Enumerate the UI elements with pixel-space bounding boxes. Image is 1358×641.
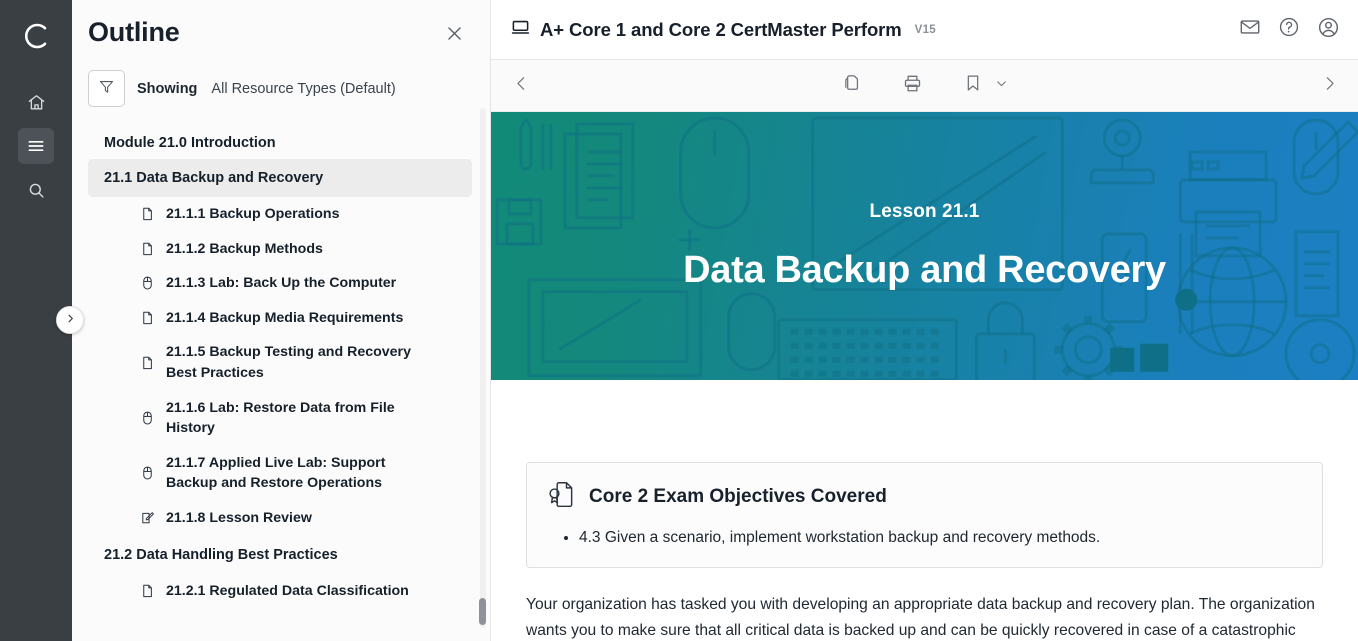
- mail-button[interactable]: [1239, 16, 1261, 43]
- exam-objectives-list: 4.3 Given a scenario, implement workstat…: [579, 526, 1302, 549]
- user-circle-icon: [1317, 16, 1340, 44]
- chevron-left-icon: [513, 75, 530, 97]
- previous-page-button[interactable]: [513, 75, 530, 97]
- document-icon: [140, 582, 156, 600]
- course-version: V15: [915, 24, 936, 36]
- sidebar-collapse-toggle[interactable]: [56, 306, 84, 334]
- reader-toolbar-actions: [491, 60, 1358, 111]
- outline-topic-label: 21.2.1 Regulated Data Classification: [166, 581, 409, 602]
- outline-header: Outline: [72, 0, 490, 52]
- outline-topic-label: 21.1.2 Backup Methods: [166, 239, 323, 260]
- copy-icon: [842, 73, 862, 98]
- main-column: A+ Core 1 and Core 2 CertMaster Perform …: [491, 0, 1358, 641]
- outline-scrollbar-track[interactable]: [480, 108, 486, 628]
- outline-lesson-item[interactable]: 21.2 Data Handling Best Practices: [88, 536, 472, 574]
- chevron-right-icon: [65, 311, 76, 329]
- outline-title: Outline: [88, 18, 180, 48]
- showing-value[interactable]: All Resource Types (Default): [211, 81, 395, 97]
- app-root: Outline Showing All Resource Types (Defa…: [0, 0, 1358, 641]
- filter-button[interactable]: [88, 70, 125, 107]
- bookmark-icon: [963, 73, 983, 98]
- document-icon: [140, 205, 156, 223]
- hero-lesson-title: Data Backup and Recovery: [683, 249, 1166, 292]
- mouse-lab-icon: [140, 409, 156, 427]
- outline-scrollbar-thumb[interactable]: [479, 598, 486, 625]
- close-icon: [445, 30, 464, 47]
- outline-topic-item[interactable]: 21.1.7 Applied Live Lab: Support Backup …: [88, 446, 472, 501]
- outline-topic-item[interactable]: 21.1.6 Lab: Restore Data from File Histo…: [88, 391, 472, 446]
- print-icon: [902, 73, 923, 99]
- hero-lesson-number: Lesson 21.1: [683, 201, 1166, 223]
- rail-item-search[interactable]: [18, 172, 54, 208]
- bookmark-group: [963, 73, 1008, 98]
- hamburger-menu-icon: [26, 136, 46, 156]
- reader-toolbar: [491, 60, 1358, 112]
- mouse-lab-icon: [140, 274, 156, 292]
- comptia-c-logo[interactable]: [16, 16, 56, 56]
- envelope-icon: [1239, 16, 1261, 43]
- outline-topic-label: 21.1.5 Backup Testing and Recovery Best …: [166, 342, 426, 383]
- outline-topic-item[interactable]: 21.1.8 Lesson Review: [88, 501, 472, 536]
- outline-module-heading[interactable]: Module 21.0 Introduction: [88, 127, 472, 159]
- exam-objective-item: 4.3 Given a scenario, implement workstat…: [579, 526, 1302, 549]
- lesson-content: Lesson 21.1 Data Backup and Recovery: [491, 112, 1358, 641]
- outline-topic-item[interactable]: 21.1.1 Backup Operations: [88, 197, 472, 232]
- copy-button[interactable]: [842, 73, 862, 98]
- outline-topic-label: 21.1.3 Lab: Back Up the Computer: [166, 273, 396, 294]
- bookmark-button[interactable]: [963, 73, 983, 98]
- pencil-review-icon: [140, 509, 156, 527]
- course-header: A+ Core 1 and Core 2 CertMaster Perform …: [491, 0, 1358, 60]
- chevron-right-icon: [1321, 75, 1338, 97]
- outline-topic-label: 21.1.4 Backup Media Requirements: [166, 308, 403, 329]
- exam-objectives-box: Core 2 Exam Objectives Covered 4.3 Given…: [526, 462, 1323, 568]
- funnel-filter-icon: [98, 78, 115, 100]
- exam-objectives-title: Core 2 Exam Objectives Covered: [589, 486, 887, 508]
- next-page-button[interactable]: [1321, 75, 1338, 97]
- search-icon: [27, 181, 46, 200]
- chevron-down-icon: [995, 77, 1008, 95]
- document-icon: [140, 240, 156, 258]
- mouse-lab-icon: [140, 464, 156, 482]
- outline-topic-label: 21.1.8 Lesson Review: [166, 508, 312, 529]
- help-button[interactable]: [1278, 16, 1300, 43]
- outline-panel: Outline Showing All Resource Types (Defa…: [72, 0, 491, 641]
- outline-topic-item[interactable]: 21.2.1 Regulated Data Classification: [88, 574, 472, 609]
- outline-topic-item[interactable]: 21.1.4 Backup Media Requirements: [88, 301, 472, 336]
- outline-close-button[interactable]: [441, 20, 468, 52]
- certificate-document-icon: [547, 479, 577, 514]
- question-circle-icon: [1278, 16, 1300, 43]
- rail-item-home[interactable]: [18, 84, 54, 120]
- page-title: A+ Core 1 and Core 2 CertMaster Perform: [540, 19, 902, 41]
- exam-objectives-header: Core 2 Exam Objectives Covered: [547, 479, 1302, 514]
- resource-filter-row: Showing All Resource Types (Default): [72, 52, 490, 107]
- account-button[interactable]: [1317, 16, 1340, 44]
- outline-topic-label: 21.1.7 Applied Live Lab: Support Backup …: [166, 453, 426, 494]
- print-button[interactable]: [902, 73, 923, 99]
- home-icon: [27, 93, 46, 112]
- document-icon: [140, 354, 156, 372]
- outline-lesson-item[interactable]: 21.1 Data Backup and Recovery: [88, 159, 472, 197]
- showing-label: Showing: [137, 81, 197, 97]
- book-icon: [511, 18, 530, 42]
- outline-topic-label: 21.1.1 Backup Operations: [166, 204, 339, 225]
- outline-topic-item[interactable]: 21.1.3 Lab: Back Up the Computer: [88, 266, 472, 301]
- intro-paragraph: Your organization has tasked you with de…: [526, 592, 1316, 641]
- course-header-left: A+ Core 1 and Core 2 CertMaster Perform …: [511, 18, 936, 42]
- outline-list: Module 21.0 Introduction21.1 Data Backup…: [72, 127, 490, 641]
- bookmark-menu-button[interactable]: [995, 77, 1008, 95]
- outline-topic-item[interactable]: 21.1.5 Backup Testing and Recovery Best …: [88, 335, 472, 390]
- hero-text-block: Lesson 21.1 Data Backup and Recovery: [683, 201, 1166, 292]
- course-header-actions: [1239, 16, 1340, 44]
- outline-topic-item[interactable]: 21.1.2 Backup Methods: [88, 232, 472, 267]
- lesson-hero-banner: Lesson 21.1 Data Backup and Recovery: [491, 112, 1358, 380]
- lesson-body: Core 2 Exam Objectives Covered 4.3 Given…: [491, 462, 1358, 641]
- document-icon: [140, 309, 156, 327]
- outline-topic-label: 21.1.6 Lab: Restore Data from File Histo…: [166, 398, 426, 439]
- rail-item-outline[interactable]: [18, 128, 54, 164]
